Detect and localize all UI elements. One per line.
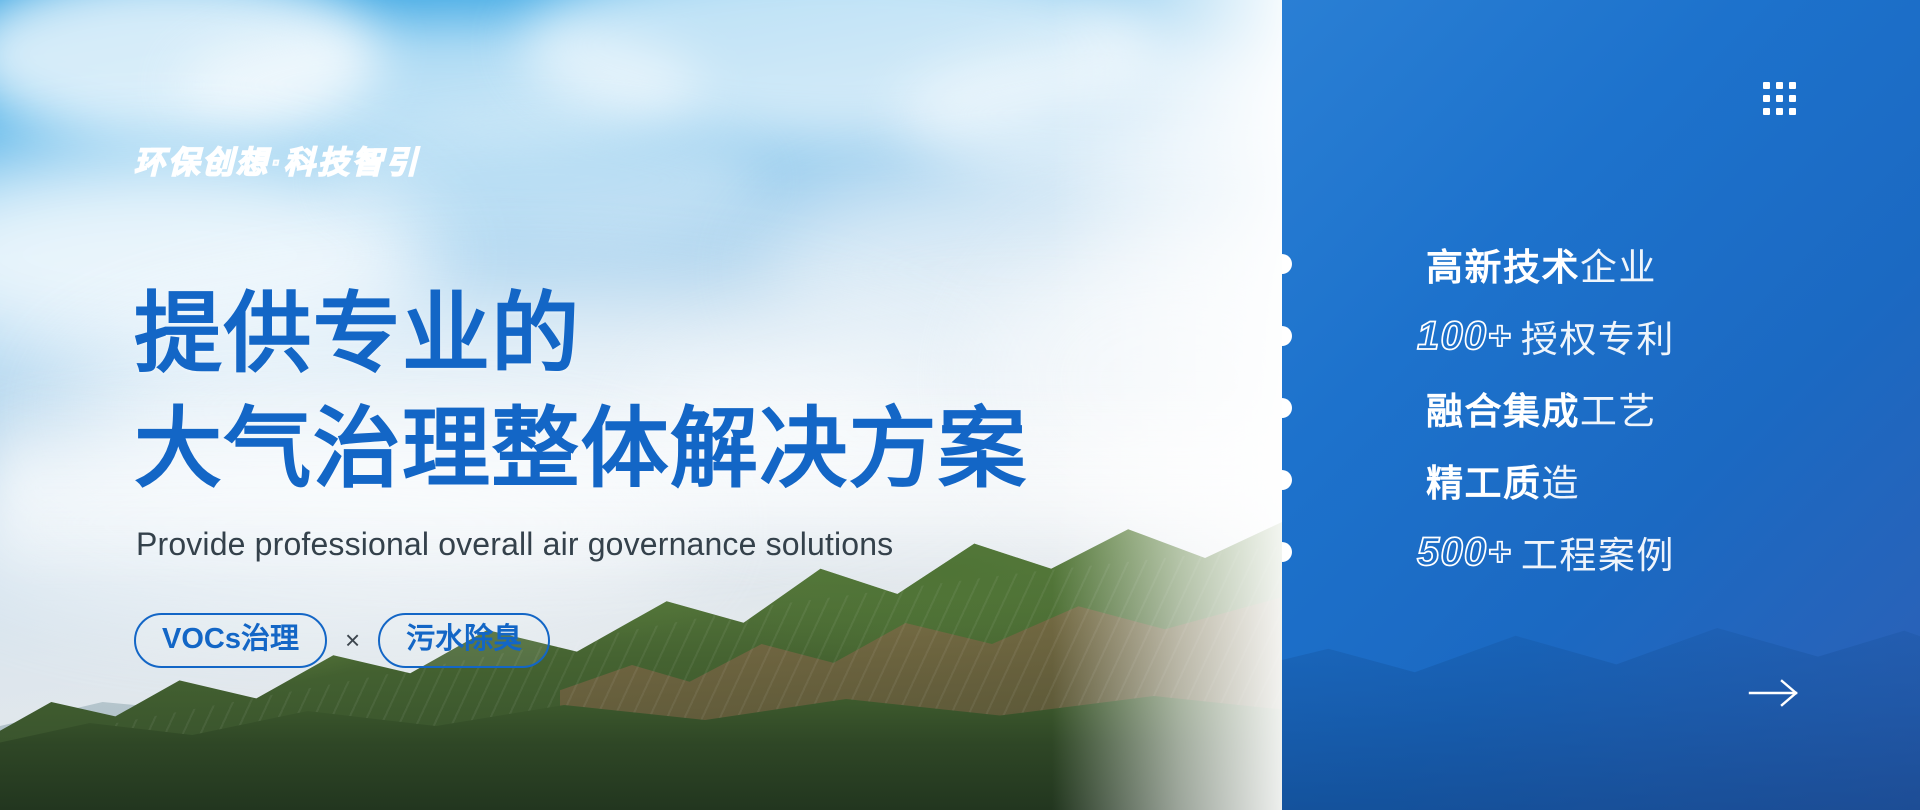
feature-number: 500+	[1417, 530, 1521, 575]
tag-pill-odor[interactable]: 污水除臭	[378, 613, 550, 668]
grid-menu-icon[interactable]	[1763, 82, 1796, 115]
tag-pill-vocs[interactable]: VOCs治理	[134, 613, 327, 668]
hero-tag-pill-group: VOCs治理 × 污水除臭	[134, 613, 550, 668]
hero-copy: 环保创想·科技智引 提供专业的 大气治理整体解决方案 Provide profe…	[134, 0, 1134, 810]
feature-bullet	[1282, 542, 1292, 562]
grid-dot	[1763, 108, 1770, 115]
grid-dot	[1789, 82, 1796, 89]
feature-light: 工艺	[1580, 381, 1657, 435]
grid-dot	[1763, 82, 1770, 89]
feature-light: 造	[1541, 453, 1579, 507]
feature-item-cases[interactable]: 500+ 工程案例	[1417, 516, 1675, 588]
feature-item-patents[interactable]: 100+ 授权专利	[1417, 300, 1675, 372]
grid-dot	[1789, 95, 1796, 102]
feature-bullet	[1282, 254, 1292, 274]
feature-light: 授权专利	[1521, 309, 1675, 363]
feature-bullet-column	[1282, 228, 1292, 588]
hero-subtitle-english: Provide professional overall air governa…	[136, 526, 893, 563]
feature-strong: 高新技术	[1426, 237, 1580, 291]
hero-headline-line-1: 提供专业的	[134, 290, 581, 378]
hero-headline-line-2: 大气治理整体解决方案	[134, 405, 1027, 493]
feature-strong: 精工质	[1426, 453, 1541, 507]
grid-dot	[1789, 108, 1796, 115]
grid-dot	[1776, 108, 1783, 115]
feature-bullet	[1282, 398, 1292, 418]
grid-dot	[1763, 95, 1770, 102]
feature-item-hitech[interactable]: 高新技术 企业	[1417, 228, 1675, 300]
feature-bullet	[1282, 470, 1292, 490]
hero-banner: 环保创想·科技智引 提供专业的 大气治理整体解决方案 Provide profe…	[0, 0, 1920, 810]
feature-light: 企业	[1580, 237, 1657, 291]
arrow-right-icon[interactable]	[1748, 676, 1802, 710]
feature-list: 高新技术 企业 100+ 授权专利 融合集成 工艺 精工质 造 500+	[1417, 228, 1675, 588]
feature-item-craft[interactable]: 精工质 造	[1417, 444, 1675, 516]
feature-strong: 融合集成	[1426, 381, 1580, 435]
feature-panel: 高新技术 企业 100+ 授权专利 融合集成 工艺 精工质 造 500+	[1282, 0, 1920, 810]
hero-tagline: 环保创想·科技智引	[134, 137, 420, 182]
feature-light: 工程案例	[1521, 525, 1675, 579]
feature-bullet	[1282, 326, 1292, 346]
grid-dot	[1776, 95, 1783, 102]
feature-item-integration[interactable]: 融合集成 工艺	[1417, 372, 1675, 444]
pill-separator: ×	[345, 625, 360, 656]
panel-ridge-silhouette	[1282, 550, 1920, 810]
grid-dot	[1776, 82, 1783, 89]
feature-number: 100+	[1417, 314, 1521, 359]
